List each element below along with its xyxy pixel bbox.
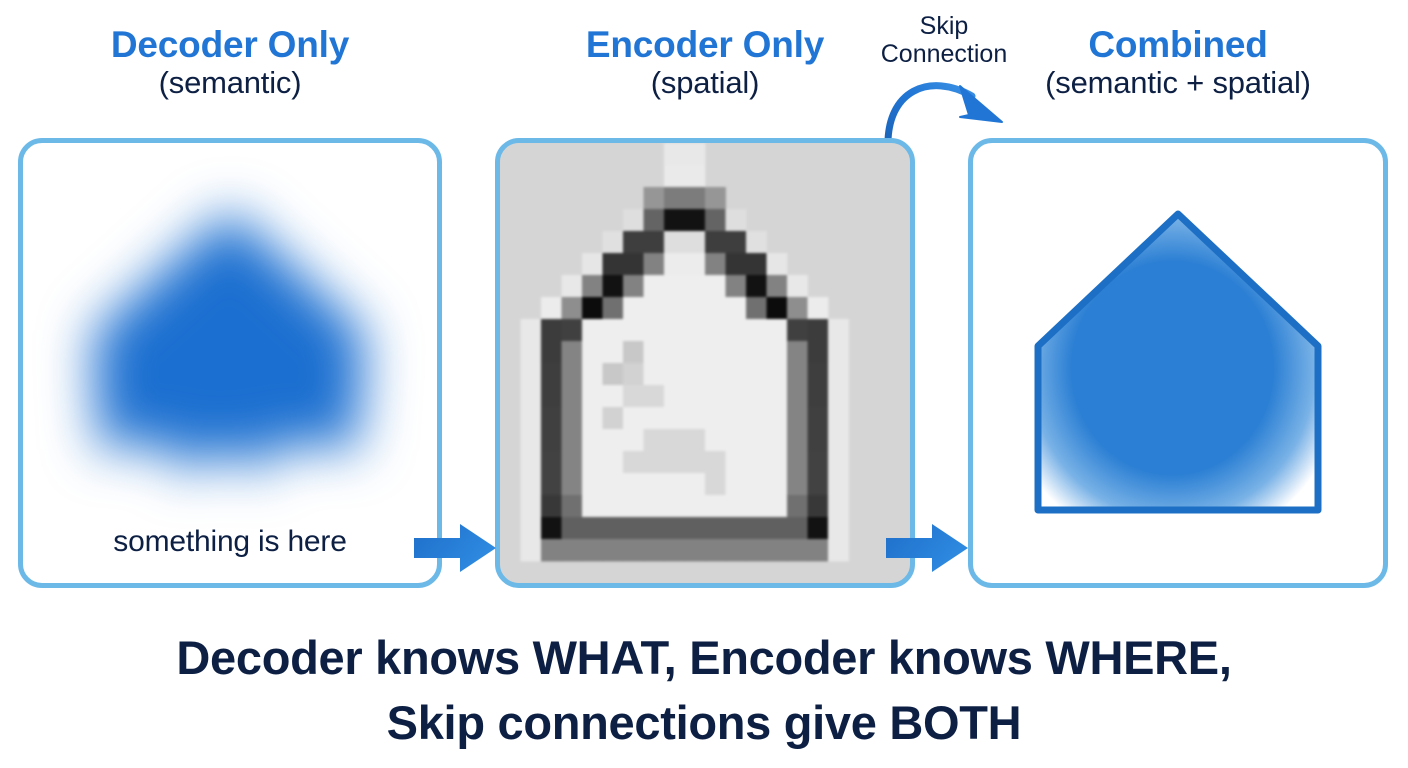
pixel-cell xyxy=(685,231,706,253)
semantic-blob-wrapper xyxy=(23,143,437,583)
pixel-cell xyxy=(746,297,767,319)
pixel-cell xyxy=(705,341,726,363)
pixel-cell xyxy=(685,165,706,187)
pixel-cell xyxy=(541,341,562,363)
pixel-cell xyxy=(603,297,624,319)
pixel-cell xyxy=(623,297,644,319)
pixel-cell xyxy=(808,451,829,473)
panel-title-decoder-sub: (semantic) xyxy=(18,67,442,99)
pixel-cell xyxy=(664,385,685,407)
pixel-cell xyxy=(603,473,624,495)
pixel-cell xyxy=(808,297,829,319)
pixel-cell xyxy=(521,385,542,407)
pixel-cell xyxy=(746,341,767,363)
panel-title-encoder-sub: (spatial) xyxy=(495,67,915,99)
summary-caption: Decoder knows WHAT, Encoder knows WHERE,… xyxy=(0,626,1408,756)
pixel-cell xyxy=(746,429,767,451)
pixel-cell xyxy=(664,253,685,275)
pixel-cell xyxy=(582,363,603,385)
pixel-cell xyxy=(521,407,542,429)
pixel-cell xyxy=(562,275,583,297)
pixel-cell xyxy=(664,275,685,297)
pixel-cell xyxy=(705,407,726,429)
panel-title-encoder: Encoder Only (spatial) xyxy=(495,26,915,100)
pixel-cell xyxy=(828,429,849,451)
pixel-cell xyxy=(726,231,747,253)
pixel-cell xyxy=(705,517,726,539)
pixel-cell xyxy=(603,429,624,451)
skip-connection-label-line2: Connection xyxy=(868,40,1020,68)
pixel-cell xyxy=(562,385,583,407)
pixel-cell xyxy=(705,363,726,385)
pixel-cell xyxy=(582,253,603,275)
panel-title-encoder-main: Encoder Only xyxy=(495,26,915,64)
pixel-cell xyxy=(808,407,829,429)
pixel-cell xyxy=(603,495,624,517)
pixel-cell xyxy=(644,253,665,275)
pixel-cell xyxy=(787,275,808,297)
pixel-cell xyxy=(541,517,562,539)
pixel-cell xyxy=(541,297,562,319)
skip-connection-label: Skip Connection xyxy=(868,12,1020,68)
pixel-cell xyxy=(808,385,829,407)
decoder-caption: something is here xyxy=(23,525,437,559)
pixel-cell xyxy=(685,473,706,495)
pixel-cell xyxy=(623,363,644,385)
panel-title-combined-sub: (semantic + spatial) xyxy=(968,67,1388,99)
pixel-cell xyxy=(644,209,665,231)
pixel-cell xyxy=(603,517,624,539)
pixel-cell xyxy=(623,473,644,495)
pixel-cell xyxy=(726,363,747,385)
pixel-cell xyxy=(603,231,624,253)
pixel-cell xyxy=(644,539,665,561)
pixel-cell xyxy=(623,429,644,451)
pixel-cell xyxy=(603,275,624,297)
pixel-cell xyxy=(664,165,685,187)
pixel-cell xyxy=(746,253,767,275)
pixel-cell xyxy=(562,319,583,341)
pixel-cell xyxy=(644,451,665,473)
pixel-cell xyxy=(828,473,849,495)
pixel-cell xyxy=(787,297,808,319)
pixel-cell xyxy=(664,539,685,561)
pixel-cell xyxy=(726,253,747,275)
pixel-cell xyxy=(541,451,562,473)
pixel-cell xyxy=(726,429,747,451)
pixel-cell xyxy=(644,363,665,385)
pixel-cell xyxy=(644,275,665,297)
pixel-cell xyxy=(746,275,767,297)
pixel-cell xyxy=(541,363,562,385)
pixel-cell xyxy=(767,363,788,385)
pixel-cell xyxy=(808,473,829,495)
pixel-cell xyxy=(726,319,747,341)
pixel-cell xyxy=(582,495,603,517)
pixel-cell xyxy=(767,451,788,473)
pixel-cell xyxy=(685,209,706,231)
flow-arrow-decoder-to-encoder xyxy=(412,522,498,574)
pixel-cell xyxy=(726,451,747,473)
pixel-cell xyxy=(767,407,788,429)
pixel-cell xyxy=(828,341,849,363)
panel-title-decoder-main: Decoder Only xyxy=(18,26,442,64)
pixel-cell xyxy=(726,407,747,429)
pixel-cell xyxy=(685,539,706,561)
pixel-cell xyxy=(746,517,767,539)
pixel-cell xyxy=(746,451,767,473)
pixel-cell xyxy=(623,209,644,231)
pixel-cell xyxy=(767,341,788,363)
pixel-cell xyxy=(767,297,788,319)
pixel-cell xyxy=(787,539,808,561)
pixel-cell xyxy=(808,517,829,539)
pixel-cell xyxy=(603,253,624,275)
pixel-cell xyxy=(521,517,542,539)
pixel-cell xyxy=(664,363,685,385)
pixel-cell xyxy=(746,363,767,385)
pixel-cell xyxy=(623,451,644,473)
pixel-cell xyxy=(726,385,747,407)
pixel-cell xyxy=(685,143,706,165)
pixel-cell xyxy=(623,231,644,253)
pixel-cell xyxy=(664,451,685,473)
pixel-cell xyxy=(726,495,747,517)
pixel-cell xyxy=(541,495,562,517)
pixel-cell xyxy=(726,539,747,561)
pixel-cell xyxy=(521,473,542,495)
blurred-house-blob-icon xyxy=(65,184,395,494)
pixel-cell xyxy=(787,385,808,407)
panel-encoder-only xyxy=(495,138,915,588)
pixel-cell xyxy=(603,319,624,341)
pixel-cell xyxy=(623,385,644,407)
pixel-cell xyxy=(603,341,624,363)
pixel-cell xyxy=(664,143,685,165)
pixel-cell xyxy=(705,385,726,407)
pixel-cell xyxy=(787,341,808,363)
panel-title-combined-main: Combined xyxy=(968,26,1388,64)
pixel-cell xyxy=(828,385,849,407)
pixel-cell xyxy=(562,539,583,561)
pixel-cell xyxy=(705,231,726,253)
pixel-cell xyxy=(705,539,726,561)
pixel-cell xyxy=(808,429,829,451)
pixel-cell xyxy=(541,429,562,451)
pixel-cell xyxy=(705,297,726,319)
pixel-cell xyxy=(726,517,747,539)
pixel-cell xyxy=(808,341,829,363)
pixel-cell xyxy=(644,319,665,341)
pixel-cell xyxy=(808,539,829,561)
pixel-cell xyxy=(685,517,706,539)
pixel-cell xyxy=(767,319,788,341)
pixel-cell xyxy=(623,341,644,363)
pixel-cell xyxy=(644,231,665,253)
pixel-cell xyxy=(562,429,583,451)
pixel-cell xyxy=(767,253,788,275)
pixel-cell xyxy=(541,539,562,561)
pixel-cell xyxy=(767,275,788,297)
pixel-cell xyxy=(521,539,542,561)
pixel-cell xyxy=(705,253,726,275)
pixel-cell xyxy=(787,429,808,451)
pixel-cell xyxy=(726,275,747,297)
pixel-cell xyxy=(828,495,849,517)
pixel-cell xyxy=(787,319,808,341)
pixel-cell xyxy=(644,385,665,407)
pixel-cell xyxy=(644,495,665,517)
pixel-cell xyxy=(685,451,706,473)
pixel-cell xyxy=(767,429,788,451)
skip-connection-label-line1: Skip xyxy=(868,12,1020,40)
pixel-cell xyxy=(808,495,829,517)
pixel-cell xyxy=(828,363,849,385)
pixel-cell xyxy=(562,297,583,319)
diagram-canvas: Decoder Only (semantic) Encoder Only (sp… xyxy=(0,0,1408,768)
pixel-cell xyxy=(541,407,562,429)
pixel-cell xyxy=(787,407,808,429)
pixel-cell xyxy=(685,187,706,209)
pixel-cell xyxy=(562,517,583,539)
pixel-cell xyxy=(767,473,788,495)
pixel-cell xyxy=(644,297,665,319)
pixel-cell xyxy=(541,385,562,407)
pixel-cell xyxy=(828,539,849,561)
pixel-cell xyxy=(746,407,767,429)
pixel-cell xyxy=(685,275,706,297)
pixel-cell xyxy=(705,319,726,341)
pixel-cell xyxy=(664,187,685,209)
pixel-cell xyxy=(521,429,542,451)
pixel-cell xyxy=(787,473,808,495)
pixel-cell xyxy=(562,407,583,429)
pixel-cell xyxy=(705,473,726,495)
pixel-cell xyxy=(541,473,562,495)
summary-caption-line1: Decoder knows WHAT, Encoder knows WHERE, xyxy=(0,626,1408,691)
pixel-cell xyxy=(664,473,685,495)
pixel-cell xyxy=(603,385,624,407)
pixel-cell xyxy=(623,319,644,341)
pixel-cell xyxy=(582,451,603,473)
pixel-cell xyxy=(582,473,603,495)
pixel-cell xyxy=(828,407,849,429)
pixel-cell xyxy=(521,341,542,363)
pixel-cell xyxy=(664,297,685,319)
sharp-house-icon xyxy=(1028,198,1328,528)
pixel-cell xyxy=(521,495,542,517)
pixel-cell xyxy=(623,253,644,275)
pixel-cell xyxy=(705,275,726,297)
pixel-cell xyxy=(644,187,665,209)
pixel-cell xyxy=(644,429,665,451)
pixel-cell xyxy=(623,517,644,539)
pixel-cell xyxy=(562,495,583,517)
pixel-cell xyxy=(541,319,562,341)
pixel-cell xyxy=(767,385,788,407)
pixel-cell xyxy=(664,209,685,231)
panel-title-combined: Combined (semantic + spatial) xyxy=(968,26,1388,100)
pixel-cell xyxy=(705,495,726,517)
pixel-cell xyxy=(582,341,603,363)
pixel-cell xyxy=(664,429,685,451)
pixel-cell xyxy=(787,451,808,473)
pixel-cell xyxy=(787,517,808,539)
pixel-cell xyxy=(705,429,726,451)
pixel-cell xyxy=(623,407,644,429)
pixel-cell xyxy=(521,363,542,385)
pixel-cell xyxy=(767,539,788,561)
summary-caption-line2: Skip connections give BOTH xyxy=(0,691,1408,756)
pixel-cell xyxy=(767,517,788,539)
pixel-cell xyxy=(603,539,624,561)
pixel-cell xyxy=(644,407,665,429)
pixel-cell xyxy=(603,407,624,429)
pixel-cell xyxy=(582,275,603,297)
pixel-cell xyxy=(521,319,542,341)
pixel-cell xyxy=(767,495,788,517)
pixel-cell xyxy=(664,231,685,253)
pixel-cell xyxy=(685,253,706,275)
pixel-cell xyxy=(746,319,767,341)
pixel-cell xyxy=(726,341,747,363)
pixel-cell xyxy=(562,473,583,495)
pixel-cell xyxy=(808,363,829,385)
pixel-cell xyxy=(726,297,747,319)
pixel-cell xyxy=(705,451,726,473)
pixel-cell xyxy=(644,517,665,539)
pixel-cell xyxy=(828,451,849,473)
pixel-cell xyxy=(685,363,706,385)
pixel-cell xyxy=(644,341,665,363)
pixel-cell xyxy=(808,319,829,341)
pixel-cell xyxy=(521,451,542,473)
pixel-cell xyxy=(685,385,706,407)
pixel-cell xyxy=(582,407,603,429)
pixel-cell xyxy=(582,297,603,319)
pixel-cell xyxy=(685,407,706,429)
pixel-cell xyxy=(603,363,624,385)
pixel-cell xyxy=(582,539,603,561)
pixel-cell xyxy=(705,209,726,231)
pixel-cell xyxy=(664,319,685,341)
pixel-cell xyxy=(664,341,685,363)
pixel-cell xyxy=(746,385,767,407)
pixel-cell xyxy=(685,429,706,451)
pixel-cell xyxy=(664,495,685,517)
pixel-cell xyxy=(582,319,603,341)
flow-arrow-encoder-to-combined xyxy=(884,522,970,574)
pixel-cell xyxy=(685,495,706,517)
pixel-cell xyxy=(787,363,808,385)
pixel-cell xyxy=(726,209,747,231)
pixel-cell xyxy=(582,385,603,407)
pixel-cell xyxy=(603,451,624,473)
pixelated-edge-map xyxy=(500,143,910,583)
pixel-cell xyxy=(664,407,685,429)
pixel-cell xyxy=(828,517,849,539)
pixel-cell xyxy=(582,517,603,539)
pixel-cell xyxy=(828,319,849,341)
pixel-cell xyxy=(562,341,583,363)
pixel-cell xyxy=(746,473,767,495)
pixel-cell xyxy=(746,495,767,517)
panel-combined xyxy=(968,138,1388,588)
pixel-cell xyxy=(582,429,603,451)
panel-title-decoder: Decoder Only (semantic) xyxy=(18,26,442,100)
pixel-cell xyxy=(685,341,706,363)
pixel-cell xyxy=(746,231,767,253)
pixel-cell xyxy=(623,495,644,517)
pixel-cell xyxy=(705,187,726,209)
pixel-cell xyxy=(623,275,644,297)
pixel-cell xyxy=(685,319,706,341)
pixel-cell xyxy=(787,495,808,517)
pixel-cell xyxy=(623,539,644,561)
pixel-cell xyxy=(562,363,583,385)
pixel-cell xyxy=(685,297,706,319)
pixel-cell xyxy=(746,539,767,561)
pixel-cell xyxy=(644,473,665,495)
pixel-cell xyxy=(562,451,583,473)
pixel-cell xyxy=(726,473,747,495)
pixel-cell xyxy=(664,517,685,539)
panel-decoder-only: something is here xyxy=(18,138,442,588)
